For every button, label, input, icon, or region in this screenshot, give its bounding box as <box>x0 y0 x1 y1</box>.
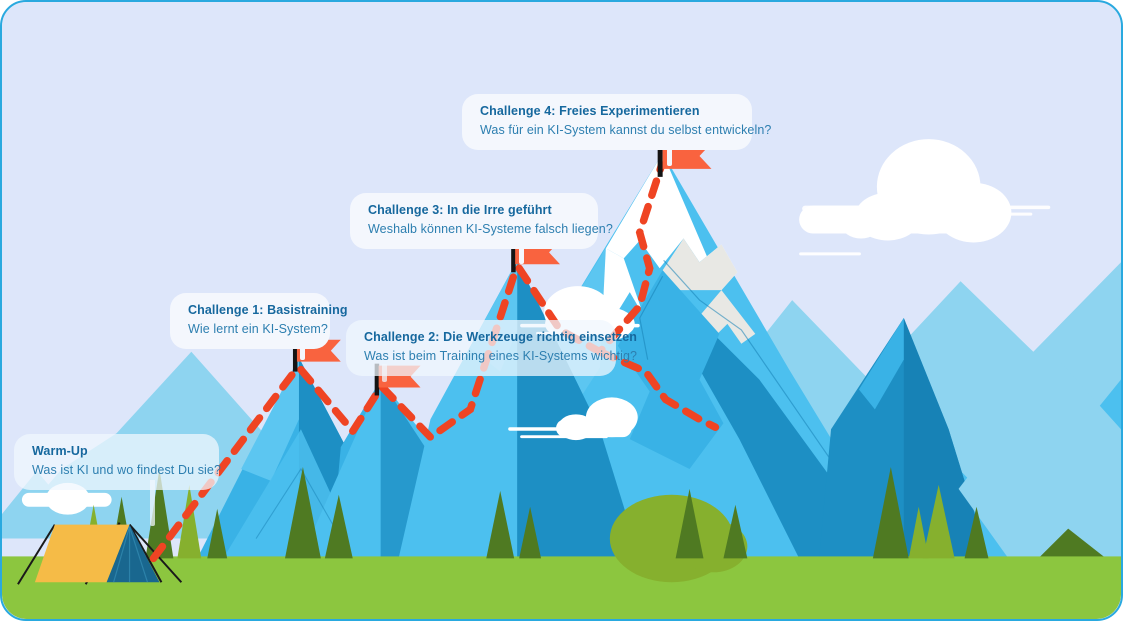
callout-challenge4-title: Challenge 4: Freies Experimentieren <box>480 103 734 120</box>
callout-challenge1[interactable]: Challenge 1: Basistraining Wie lernt ein… <box>170 293 330 349</box>
callout-challenge4[interactable]: Challenge 4: Freies Experimentieren Was … <box>462 94 752 150</box>
ground <box>2 556 1121 619</box>
callout-warmup[interactable]: Warm-Up Was ist KI und wo findest Du sie… <box>14 434 219 490</box>
callout-warmup-subtitle: Was ist KI und wo findest Du sie? <box>32 462 201 479</box>
illustration-canvas: Warm-Up Was ist KI und wo findest Du sie… <box>0 0 1123 621</box>
callout-challenge2-subtitle: Was ist beim Training eines KI-Systems w… <box>364 348 598 365</box>
callout-challenge1-subtitle: Wie lernt ein KI-System? <box>188 321 312 338</box>
callout-challenge3[interactable]: Challenge 3: In die Irre geführt Weshalb… <box>350 193 598 249</box>
callout-challenge2[interactable]: Challenge 2: Die Werkzeuge richtig einse… <box>346 320 616 376</box>
callout-warmup-title: Warm-Up <box>32 443 201 460</box>
illustration-stage: Warm-Up Was ist KI und wo findest Du sie… <box>0 0 1123 621</box>
callout-challenge3-title: Challenge 3: In die Irre geführt <box>368 202 580 219</box>
callout-challenge1-title: Challenge 1: Basistraining <box>188 302 312 319</box>
callout-challenge2-title: Challenge 2: Die Werkzeuge richtig einse… <box>364 329 598 346</box>
callout-challenge4-subtitle: Was für ein KI-System kannst du selbst e… <box>480 122 734 139</box>
callout-challenge3-subtitle: Weshalb können KI-Systeme falsch liegen? <box>368 221 580 238</box>
